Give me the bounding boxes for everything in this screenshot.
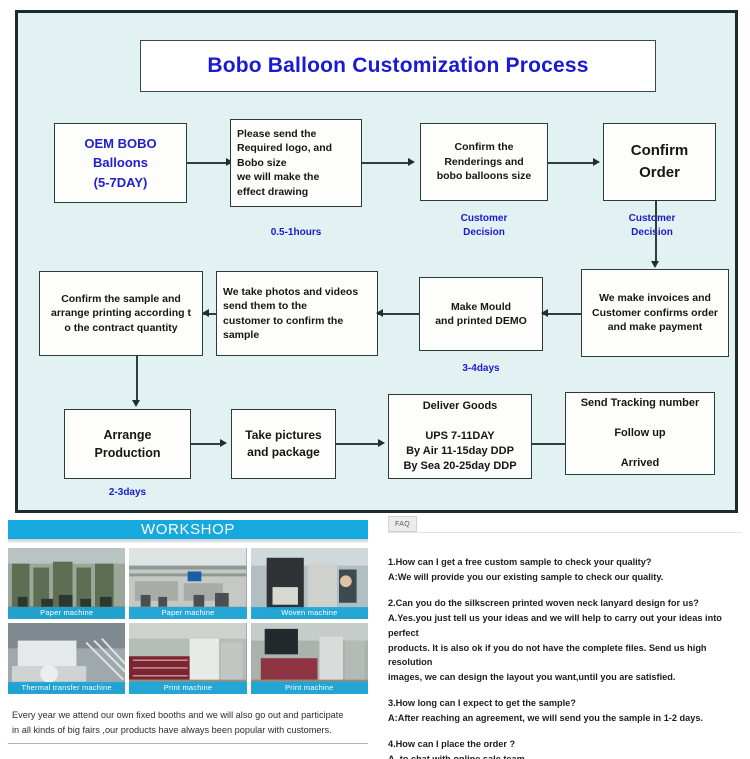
- caption-customer-decision-1: Customer Decision: [420, 212, 548, 239]
- connector-invoices-to-mould: [543, 313, 581, 315]
- node-tracking-followup-label: Send Tracking number Follow up Arrived: [572, 396, 708, 472]
- node-make-mould: Make Mould and printed DEMO: [419, 277, 543, 351]
- faq-answer: A. to chat with online sale team: [388, 752, 742, 759]
- caption-hours: 0.5-1hours: [230, 226, 362, 240]
- workshop-note-line-2: in all kinds of big fairs ,our products …: [12, 723, 364, 738]
- flowchart-panel: Bobo Balloon Customization Process OEM B…: [15, 10, 738, 513]
- node-tracking-followup: Send Tracking number Follow up Arrived: [565, 392, 715, 475]
- workshop-divider: [8, 743, 368, 744]
- caption-3-4-days: 3-4days: [419, 362, 543, 376]
- workshop-photo-caption: Paper machine: [8, 607, 125, 619]
- faq-answer: A:After reaching an agreement, we will s…: [388, 711, 742, 726]
- connector-oem-to-send: [187, 162, 228, 164]
- faq-list: 1.How can I get a free custom sample to …: [388, 555, 742, 759]
- arrow-invoices-to-mould: [541, 309, 548, 317]
- faq-item: 1.How can I get a free custom sample to …: [388, 555, 742, 585]
- node-confirm-renderings: Confirm the Renderings and bobo balloons…: [420, 123, 548, 201]
- node-take-pictures-package: Take pictures and package: [231, 409, 336, 479]
- workshop-photo-item[interactable]: Print machine: [251, 623, 368, 694]
- node-send-requirements-label: Please send the Required logo, and Bobo …: [237, 127, 355, 199]
- node-deliver-goods-label: Deliver Goods UPS 7-11DAY By Air 11-15da…: [395, 399, 525, 475]
- node-confirm-order: Confirm Order: [603, 123, 716, 201]
- workshop-photo-caption: Thermal transfer machine: [8, 682, 125, 694]
- faq-question: 4.How can I place the order ?: [388, 737, 742, 752]
- faq-section: FAQ 1.How can I get a free custom sample…: [388, 516, 742, 754]
- node-arrange-production-label: Arrange Production: [71, 426, 184, 462]
- arrow-pictures-to-deliver: [378, 439, 385, 447]
- workshop-photo-item[interactable]: Paper machine: [8, 548, 125, 619]
- node-deliver-goods: Deliver Goods UPS 7-11DAY By Air 11-15da…: [388, 394, 532, 479]
- workshop-photo-item[interactable]: Woven machine: [251, 548, 368, 619]
- flowchart-title-box: Bobo Balloon Customization Process: [140, 40, 656, 92]
- faq-item: 3.How long can I expect to get the sampl…: [388, 696, 742, 726]
- arrow-production-to-pictures: [220, 439, 227, 447]
- node-invoices-payment-label: We make invoices and Customer confirms o…: [588, 291, 722, 334]
- faq-answer: A.Yes.you just tell us your ideas and we…: [388, 611, 742, 641]
- arrow-sample-to-production: [132, 400, 140, 407]
- node-take-photos-videos: We take photos and videos send them to t…: [216, 271, 378, 356]
- caption-customer-decision-2: Customer Decision: [588, 212, 716, 239]
- faq-question: 3.How long can I expect to get the sampl…: [388, 696, 742, 711]
- node-confirm-renderings-label: Confirm the Renderings and bobo balloons…: [427, 140, 541, 183]
- connector-render-to-order: [548, 162, 595, 164]
- workshop-photo-grid: Paper machine Paper machine: [8, 548, 368, 694]
- node-take-pictures-package-label: Take pictures and package: [238, 427, 329, 460]
- workshop-photo-caption: Woven machine: [251, 607, 368, 619]
- workshop-photo-caption: Print machine: [251, 682, 368, 694]
- node-send-requirements: Please send the Required logo, and Bobo …: [230, 119, 362, 207]
- workshop-banner-shadow: [8, 539, 368, 543]
- faq-tab-divider: [388, 532, 742, 533]
- faq-question: 2.Can you do the silkscreen printed wove…: [388, 596, 742, 611]
- node-oem-bobo-balloons: OEM BOBO Balloons (5-7DAY): [54, 123, 187, 203]
- workshop-section: WORKSHOP: [8, 520, 368, 755]
- connector-mould-to-photos: [378, 313, 419, 315]
- page-root: Bobo Balloon Customization Process OEM B…: [0, 0, 750, 759]
- connector-order-to-invoices: [655, 201, 657, 263]
- node-confirm-order-label: Confirm Order: [610, 140, 709, 184]
- arrow-order-to-invoices: [651, 261, 659, 268]
- node-arrange-production: Arrange Production: [64, 409, 191, 479]
- connector-send-to-confirm-render: [362, 162, 410, 164]
- workshop-photo-caption: Print machine: [129, 682, 246, 694]
- node-oem-bobo-balloons-label: OEM BOBO Balloons (5-7DAY): [61, 134, 180, 193]
- node-invoices-payment: We make invoices and Customer confirms o…: [581, 269, 729, 357]
- connector-sample-to-production: [136, 356, 138, 402]
- page-title: Bobo Balloon Customization Process: [207, 54, 588, 78]
- node-take-photos-videos-label: We take photos and videos send them to t…: [223, 285, 371, 343]
- faq-item: 4.How can I place the order ? A. to chat…: [388, 737, 742, 759]
- arrow-mould-to-photos: [376, 309, 383, 317]
- connector-production-to-pictures: [191, 443, 222, 445]
- node-confirm-sample-label: Confirm the sample and arrange printing …: [46, 292, 196, 335]
- faq-answer-cont: products. It is also ok if you do not ha…: [388, 641, 742, 671]
- caption-2-3-days: 2-3days: [64, 486, 191, 500]
- workshop-photo-item[interactable]: Print machine: [129, 623, 246, 694]
- node-make-mould-label: Make Mould and printed DEMO: [426, 300, 536, 329]
- tab-faq[interactable]: FAQ: [388, 516, 417, 532]
- workshop-photo-item[interactable]: Paper machine: [129, 548, 246, 619]
- arrow-render-to-order: [593, 158, 600, 166]
- workshop-note-line-1: Every year we attend our own fixed booth…: [12, 708, 364, 723]
- faq-item: 2.Can you do the silkscreen printed wove…: [388, 596, 742, 685]
- workshop-photo-caption: Paper machine: [129, 607, 246, 619]
- workshop-photo-item[interactable]: Thermal transfer machine: [8, 623, 125, 694]
- faq-question: 1.How can I get a free custom sample to …: [388, 555, 742, 570]
- arrow-send-to-confirm-render: [408, 158, 415, 166]
- workshop-banner: WORKSHOP: [8, 520, 368, 539]
- faq-answer: A:We will provide you our existing sampl…: [388, 570, 742, 585]
- connector-pictures-to-deliver: [336, 443, 380, 445]
- arrow-photos-to-sample: [202, 309, 209, 317]
- workshop-note: Every year we attend our own fixed booth…: [8, 708, 368, 738]
- faq-answer-cont: images, we can design the layout you wan…: [388, 670, 742, 685]
- node-confirm-sample: Confirm the sample and arrange printing …: [39, 271, 203, 356]
